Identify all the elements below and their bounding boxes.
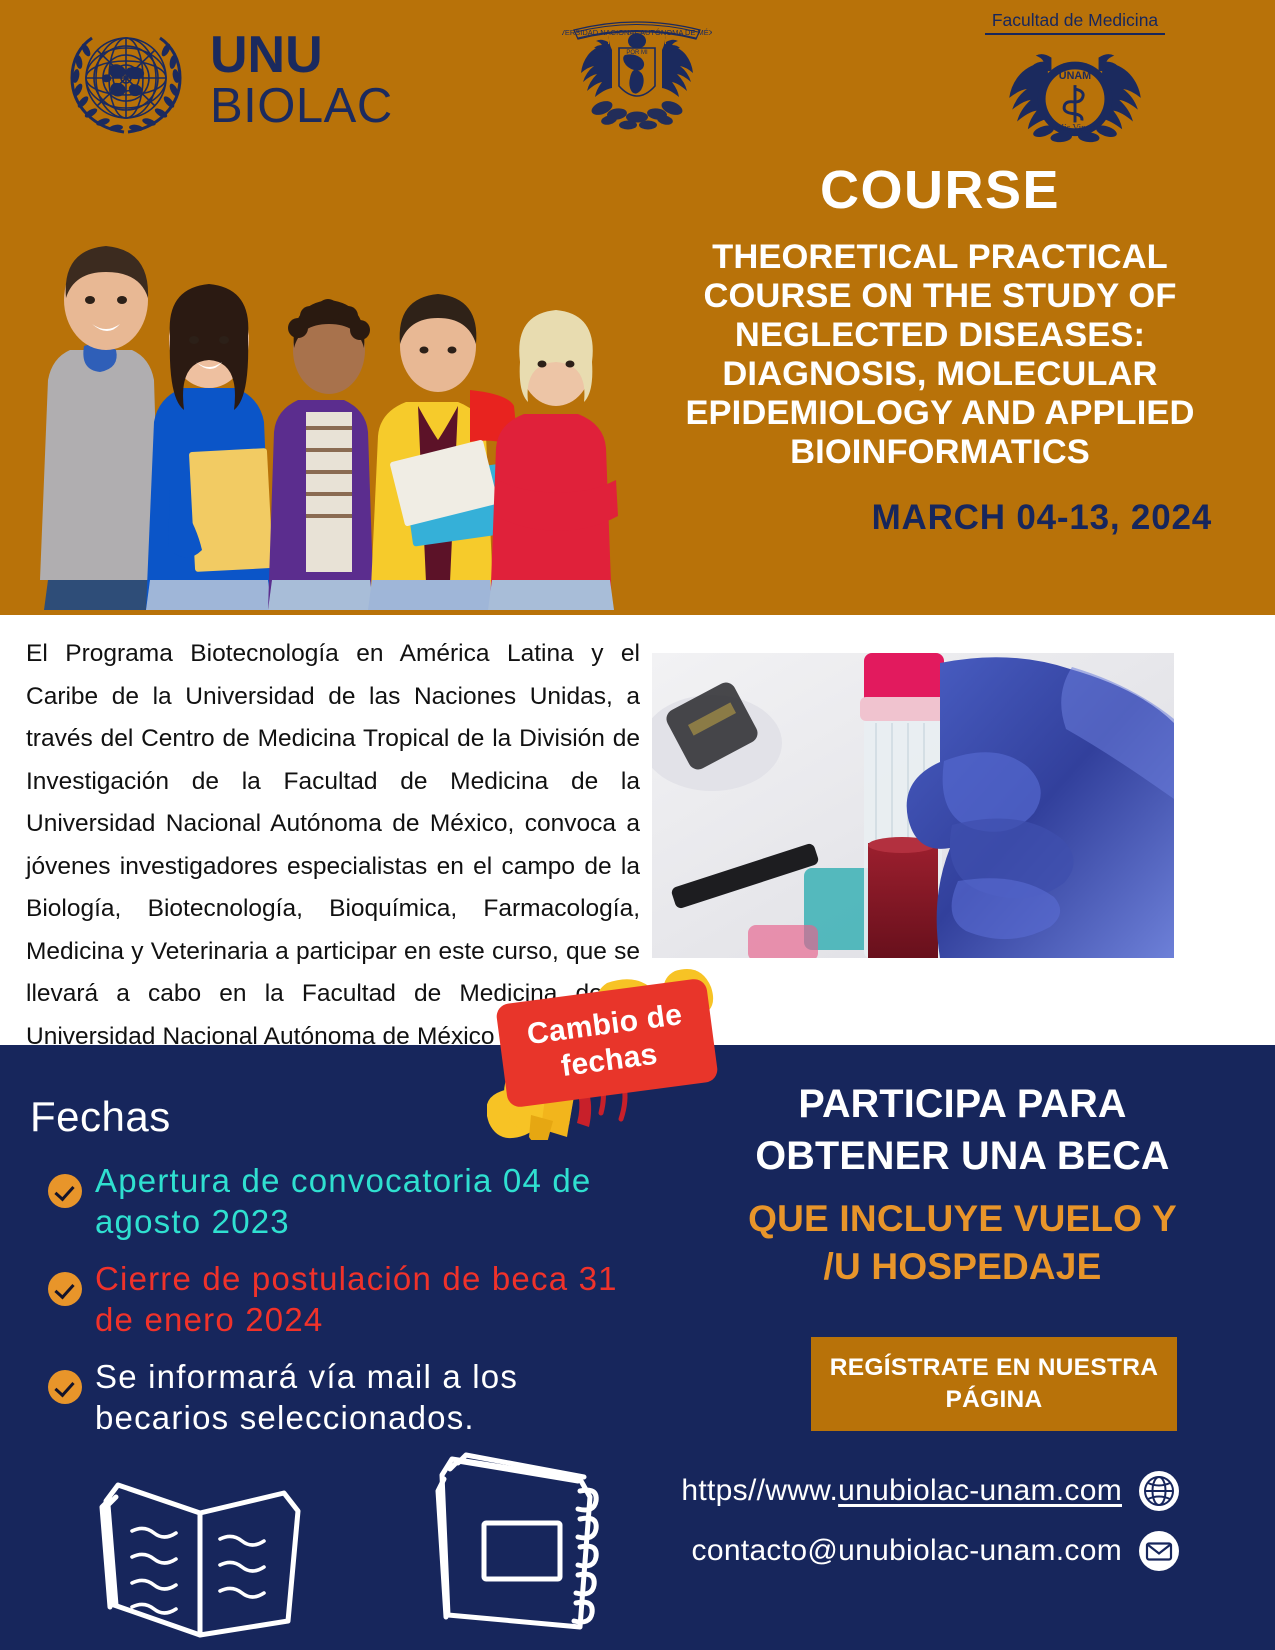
date-change-badge: Cambio de fechas [487,965,732,1140]
svg-text:UNAM: UNAM [1059,70,1091,82]
check-circle-icon [48,1370,82,1404]
check-circle-icon [48,1272,82,1306]
unam-shield-logo: UNIVERSIDAD NACIONAL AUTÓNOMA DE MÉXICO [562,8,712,143]
email-row[interactable]: contacto@unubiolac-unam.com [600,1530,1180,1572]
website-url[interactable]: https//www.unubiolac-unam.com [681,1474,1122,1508]
unam-medicine-shield-icon: UNAM Alis Vincit [985,38,1165,146]
students-group-photo [10,150,630,610]
website-url-domain: unubiolac-unam.com [838,1474,1122,1507]
notebook-icon [430,1445,620,1645]
globe-icon[interactable] [1138,1470,1180,1512]
unu-logo-line2: BIOLAC [210,80,393,132]
list-item: Apertura de convocatoria 04 de agosto 20… [48,1160,648,1242]
unu-logo-line1: UNU [210,30,393,80]
course-title-block: COURSE THEORETICAL PRACTICAL COURSE ON T… [660,160,1220,538]
envelope-icon[interactable] [1138,1530,1180,1572]
website-url-prefix: https//www. [681,1474,838,1507]
poster-root: UNU BIOLAC UNIVERSIDAD NACIONAL AUTÓNOMA… [0,0,1275,1650]
svg-text:POR MI: POR MI [626,50,648,56]
facultad-medicina-label: Facultad de Medicina [985,10,1165,35]
svg-text:Alis Vincit: Alis Vincit [1055,123,1096,133]
date-change-text: Cambio de fechas [517,996,697,1090]
date-item-label: Cierre de postulación de beca 31 de ener… [95,1258,648,1340]
un-emblem-icon [62,28,190,138]
list-item: Se informará vía mail a los becarios sel… [48,1356,648,1438]
course-date: MARCH 04-13, 2024 [660,498,1220,538]
unam-shield-icon: UNIVERSIDAD NACIONAL AUTÓNOMA DE MÉXICO [562,8,712,143]
course-label: COURSE [660,160,1220,220]
course-title: THEORETICAL PRACTICAL COURSE ON THE STUD… [660,238,1220,472]
facultad-medicina-logo: Facultad de Medicina UNAM [985,10,1165,150]
open-book-icon [88,1455,318,1645]
register-button[interactable]: REGÍSTRATE EN NUESTRA PÁGINA [811,1337,1177,1431]
check-circle-icon [48,1174,82,1208]
scholarship-subline: QUE INCLUYE VUELO Y /U HOSPEDAJE [735,1195,1190,1291]
unu-logo-text: UNU BIOLAC [210,30,393,132]
dates-list: Apertura de convocatoria 04 de agosto 20… [48,1160,648,1454]
date-item-label: Se informará vía mail a los becarios sel… [95,1356,648,1438]
lab-sample-photo [652,653,1174,958]
list-item: Cierre de postulación de beca 31 de ener… [48,1258,648,1340]
scholarship-headline: PARTICIPA PARA OBTENER UNA BECA [735,1078,1190,1182]
dates-heading: Fechas [30,1093,171,1141]
unu-biolac-logo: UNU BIOLAC [62,22,402,137]
header-section: UNU BIOLAC UNIVERSIDAD NACIONAL AUTÓNOMA… [0,0,1275,615]
email-address[interactable]: contacto@unubiolac-unam.com [692,1534,1122,1568]
date-item-label: Apertura de convocatoria 04 de agosto 20… [95,1160,648,1242]
website-row[interactable]: https//www.unubiolac-unam.com [600,1470,1180,1512]
